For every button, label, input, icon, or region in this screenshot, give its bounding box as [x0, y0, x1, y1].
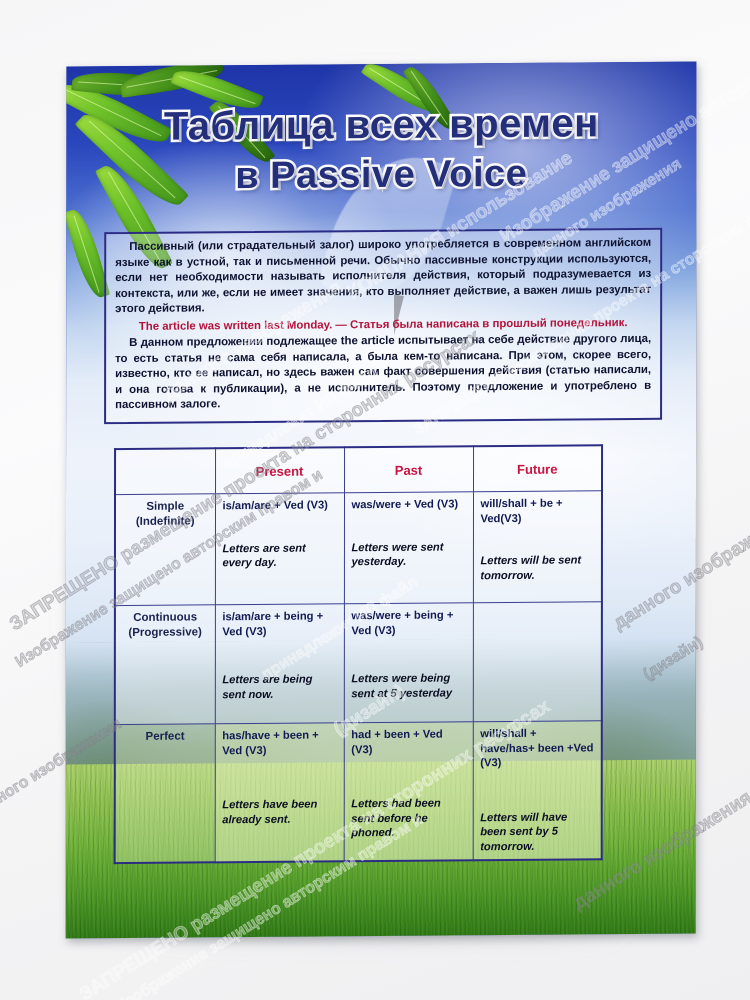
formula-text	[480, 607, 593, 608]
cell-perfect-past: had + been + Ved (V3) Letters had been s…	[344, 722, 473, 862]
cell-simple-present: is/am/are + Ved (V3) Letters are sent ev…	[215, 493, 344, 605]
row-label-continuous: Continuous (Progressive)	[115, 605, 215, 725]
example-text: Letters will be sent tomorrow.	[480, 553, 594, 583]
formula-text: will/shall + have/has+ been +Ved (V3)	[480, 726, 594, 771]
table-header-row: Present Past Future	[115, 445, 602, 494]
description-box: Пассивный (или страдательный залог) широ…	[104, 228, 662, 424]
example-text: Letters had been sent before he phoned.	[351, 796, 465, 841]
formula-text: is/am/are + Ved (V3)	[222, 498, 336, 513]
row-label-line-1: Perfect	[123, 729, 208, 745]
formula-text: was/were + being + Ved (V3)	[351, 608, 465, 638]
cell-simple-future: will/shall + be + Ved(V3) Letters will b…	[473, 491, 602, 603]
title-line-2: в Passive Voice	[66, 153, 696, 199]
example-text: Letters are being sent now.	[222, 672, 336, 702]
title-line-1: Таблица всех времен	[66, 102, 696, 150]
table-row: Continuous (Progressive) is/am/are + bei…	[115, 602, 602, 725]
formula-text: is/am/are + being + Ved (V3)	[222, 609, 336, 639]
row-label-line-2: (Indefinite)	[123, 514, 208, 530]
example-text: Letters will have been sent by 5 tomorro…	[480, 810, 594, 855]
formula-text: had + been + Ved (V3)	[351, 727, 465, 757]
example-text	[480, 641, 593, 642]
screenshot-stage: Таблица всех времен в Passive Voice Пасс…	[0, 0, 750, 1000]
page-title: Таблица всех времен в Passive Voice	[66, 102, 696, 199]
table-corner-cell	[115, 448, 215, 494]
example-text: Letters are sent every day.	[222, 541, 336, 571]
column-header-present: Present	[215, 447, 344, 494]
row-label-line-1: Simple	[123, 499, 208, 515]
cell-perfect-future: will/shall + have/has+ been +Ved (V3) Le…	[473, 721, 602, 861]
formula-text: has/have + been + Ved (V3)	[222, 728, 336, 758]
column-header-future: Future	[473, 445, 602, 492]
row-label-line-2: (Progressive)	[123, 625, 208, 641]
example-text: Letters were sent yesterday.	[351, 540, 465, 570]
cell-perfect-present: has/have + been + Ved (V3) Letters have …	[215, 723, 344, 863]
cell-simple-past: was/were + Ved (V3) Letters were sent ye…	[344, 492, 473, 604]
formula-text: will/shall + be + Ved(V3)	[480, 496, 594, 526]
formula-text: was/were + Ved (V3)	[351, 497, 465, 512]
cell-continuous-future	[473, 602, 602, 722]
table-row: Perfect has/have + been + Ved (V3) Lette…	[115, 721, 602, 864]
passive-voice-table: Present Past Future Simple (Indefinite) …	[114, 444, 603, 864]
example-text: Letters were being sent at 5 yesterday	[351, 671, 465, 701]
row-label-perfect: Perfect	[115, 724, 215, 864]
description-paragraph-2: В данном предложении подлежащее the arti…	[115, 332, 651, 414]
row-label-line-1: Continuous	[123, 610, 208, 626]
row-label-simple: Simple (Indefinite)	[115, 494, 215, 606]
poster-sheet: Таблица всех времен в Passive Voice Пасс…	[66, 62, 697, 939]
table-row: Simple (Indefinite) is/am/are + Ved (V3)…	[115, 491, 602, 606]
cell-continuous-present: is/am/are + being + Ved (V3) Letters are…	[215, 604, 344, 724]
example-text: Letters have been already sent.	[222, 797, 336, 827]
cell-continuous-past: was/were + being + Ved (V3) Letters were…	[344, 603, 473, 723]
description-paragraph-1: Пассивный (или страдательный залог) широ…	[115, 236, 651, 318]
column-header-past: Past	[344, 446, 473, 493]
